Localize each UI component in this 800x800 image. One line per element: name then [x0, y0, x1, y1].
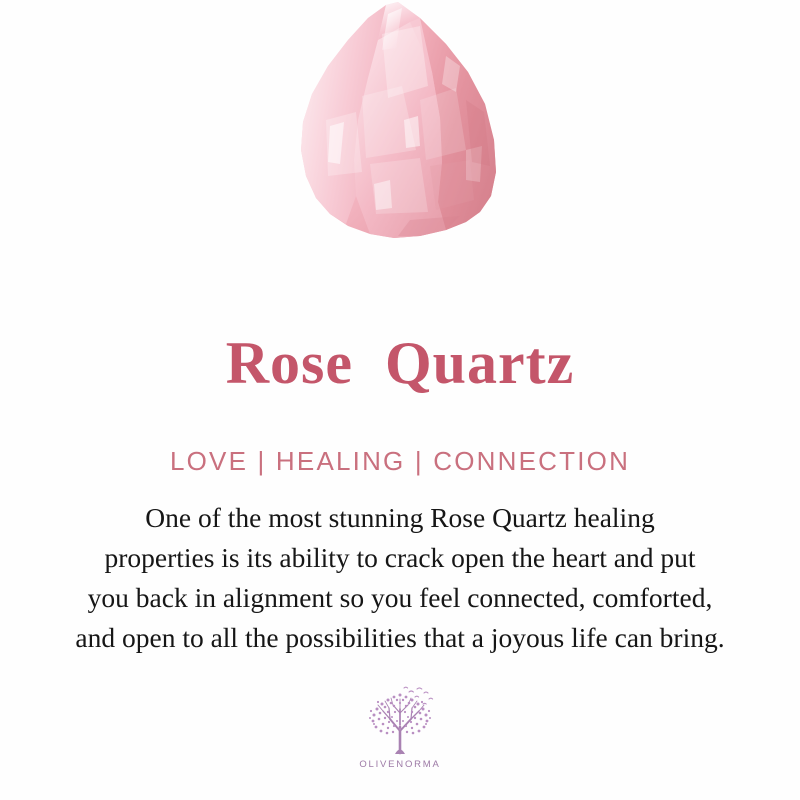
brand-wordmark: OLIVENORMA — [359, 759, 440, 770]
tree-of-life-icon — [361, 683, 439, 757]
crystal-highlight-2 — [328, 122, 344, 164]
crystal-highlight-5 — [442, 56, 460, 92]
product-description: One of the most stunning Rose Quartz hea… — [22, 498, 778, 658]
crystal-facet-left — [301, 5, 386, 224]
brand-logo: OLIVENORMA — [0, 683, 800, 770]
crystal-fracture-4 — [370, 158, 428, 214]
keyword-tagline: LOVE | HEALING | CONNECTION — [0, 447, 800, 476]
crystal-facet-right — [420, 18, 496, 230]
crystal-highlight-1 — [382, 8, 402, 50]
description-line: properties is its ability to crack open … — [22, 538, 778, 578]
description-line: One of the most stunning Rose Quartz hea… — [22, 498, 778, 538]
rose-quartz-crystal-icon — [270, 0, 530, 300]
crystal-fracture-2 — [362, 86, 416, 158]
crystal-facet-center — [354, 22, 446, 238]
product-info-card: Rose Quartz LOVE | HEALING | CONNECTION … — [0, 0, 800, 800]
crystal-fracture-1 — [382, 26, 428, 98]
crystal-highlight-6 — [466, 146, 482, 182]
description-line: you back in alignment so you feel connec… — [22, 578, 778, 618]
crystal-highlight-3 — [404, 116, 420, 148]
description-line: and open to all the possibilities that a… — [22, 618, 778, 658]
crystal-body — [301, 2, 496, 238]
crystal-shadow-right — [466, 100, 490, 166]
product-image-container — [0, 0, 800, 310]
crystal-facet-apex — [378, 2, 420, 40]
crystal-fracture-6 — [326, 112, 362, 176]
crystal-fracture-3 — [420, 88, 466, 160]
crystal-fracture-5 — [430, 160, 474, 210]
crystal-highlight-4 — [374, 180, 392, 210]
page-title: Rose Quartz — [0, 333, 800, 393]
tree-roots — [395, 750, 405, 755]
crystal-shadow-base — [398, 216, 460, 236]
tree-birds — [404, 687, 433, 704]
